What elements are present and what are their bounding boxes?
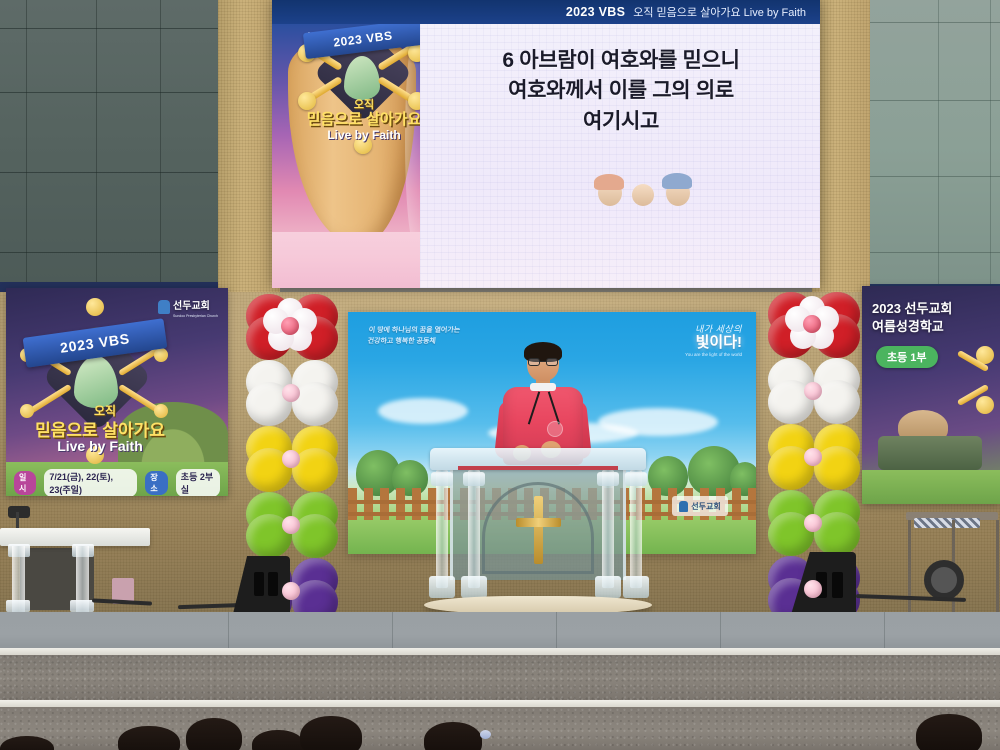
flower-center <box>804 514 822 532</box>
hair-bow-accessory <box>480 730 491 739</box>
church-emblem-icon <box>679 501 688 512</box>
screen-brand-label: 2023 VBS <box>566 5 625 19</box>
banner-right-title-line-1: 2023 선두교회 <box>872 300 952 318</box>
audience-child-head <box>118 726 180 750</box>
desk-phone-icon <box>8 506 30 518</box>
step-riser-upper <box>0 655 1000 703</box>
preacher <box>497 345 589 465</box>
screen-header-bar: 2023 VBS 오직 믿음으로 살아가요 Live by Faith <box>272 0 820 24</box>
wood-column-left <box>218 0 280 300</box>
kid-hair <box>594 174 624 190</box>
date-value: 7/21(금), 22(토), 23(주일) <box>44 469 137 496</box>
audience-child-head <box>300 716 362 750</box>
screen-vbs-logo-badge: 2023 VBS 오직 믿음으로 살아가요 Live by Faith <box>298 4 426 154</box>
banner-right-title: 2023 선두교회 여름성경학교 <box>872 300 952 335</box>
pulpit-red-accent <box>458 466 618 470</box>
white-flower-balloon <box>766 358 862 424</box>
green-flower-balloon <box>766 490 862 556</box>
verse-line-3: 여기시고 <box>432 107 810 137</box>
green-flower-balloon <box>244 492 340 558</box>
flower-center <box>804 382 822 400</box>
banner-left-vbs-badge: 2023 VBS 오직 믿음으로 살아가요 Live by Faith <box>20 304 170 454</box>
backdrop-church-logo: 선두교회 <box>672 496 728 516</box>
flower-center <box>282 516 300 534</box>
photo-scene: 2023 VBS 오직 믿음으로 살아가요 Live by Faith <box>0 0 1000 750</box>
preacher-shirt-emblem <box>547 421 563 437</box>
banner-right-grade-chip: 초등 1부 <box>876 346 938 368</box>
audience-child-head <box>186 718 242 750</box>
verse-line-1: 6 아브람이 여호와를 믿으니 <box>432 46 810 76</box>
backdrop-light-logo: 내가 세상의 빛이다! You are the light of the wor… <box>612 322 742 358</box>
av-cart-mat <box>914 518 980 528</box>
flower-center <box>282 582 300 600</box>
kid-character <box>632 184 654 206</box>
banner-left: 선두교회 Sundoo Presbyterian Church 2023 VBS… <box>6 288 228 496</box>
step-nosing-lower <box>0 700 1000 707</box>
preacher-collar <box>530 383 556 391</box>
flower-center <box>281 317 299 335</box>
cable-reel <box>924 560 964 600</box>
wood-column-right <box>812 0 870 300</box>
verse-line-2: 여호와께서 이를 그의 의로 <box>432 76 810 106</box>
badge-korean-large: 믿음으로 살아가요 <box>300 108 428 129</box>
red-flower-balloon <box>766 292 862 358</box>
badge-english-tagline: Live by Faith <box>20 438 180 454</box>
wall-panel-right <box>862 0 1000 292</box>
audience-child-head <box>916 714 982 750</box>
kid-hair <box>662 173 692 189</box>
backdrop-slogan: 이 땅에 하나님의 꿈을 열어가는 건강하고 행복한 공동체 <box>367 326 519 347</box>
glasses-icon <box>528 358 558 366</box>
banner-right-title-line-2: 여름성경학교 <box>872 318 952 336</box>
projection-screen: 2023 VBS 오직 믿음으로 살아가요 Live by Faith <box>272 0 820 288</box>
backdrop-slogan-line-2: 건강하고 행복한 공동체 <box>367 337 518 348</box>
stage-floor <box>0 612 1000 650</box>
church-subtitle-label: Sundoo Presbyterian Church <box>173 314 218 318</box>
banner-right-car-icon <box>878 436 982 470</box>
backdrop-slogan-line-1: 이 땅에 하나님의 꿈을 열어가는 <box>368 326 519 337</box>
banner-right: 2023 선두교회 여름성경학교 초등 1부 <box>862 286 1000 504</box>
place-label-pill: 장소 <box>145 471 167 495</box>
church-name-label: 선두교회 <box>691 501 720 512</box>
white-flower-balloon <box>244 360 340 426</box>
badge-english-tagline: Live by Faith <box>300 128 428 142</box>
banner-right-grass <box>862 470 1000 504</box>
bible-verse-text: 6 아브람이 여호와를 믿으니 여호와께서 이를 그의 의로 여기시고 <box>432 46 810 137</box>
screen-tagline-label: 오직 믿음으로 살아가요 Live by Faith <box>633 4 806 20</box>
audience-child-head <box>424 722 482 750</box>
wall-panel-left <box>0 0 218 300</box>
place-value: 초등 2부실 <box>176 469 220 496</box>
yellow-flower-balloon <box>244 426 340 492</box>
backdrop-logo-subline: You are the light of the world <box>612 352 742 357</box>
pulpit <box>424 448 652 616</box>
audience-child-head <box>252 730 304 750</box>
flower-center <box>282 450 300 468</box>
flower-center <box>804 448 822 466</box>
banner-left-info-strip: 일시 7/21(금), 22(토), 23(주일) 장소 초등 2부실 <box>6 472 228 494</box>
date-label-pill: 일시 <box>14 471 36 495</box>
backdrop-logo-headline: 빛이다! <box>612 335 742 350</box>
cross-icon <box>534 496 543 564</box>
flower-center <box>803 315 821 333</box>
cross-icon-crossbar <box>516 518 561 527</box>
flower-center <box>804 580 822 598</box>
step-nosing-upper <box>0 648 1000 655</box>
red-flower-balloon <box>244 294 340 360</box>
church-name-label: 선두교회 <box>173 301 210 312</box>
yellow-flower-balloon <box>766 424 862 490</box>
flower-center <box>282 384 300 402</box>
